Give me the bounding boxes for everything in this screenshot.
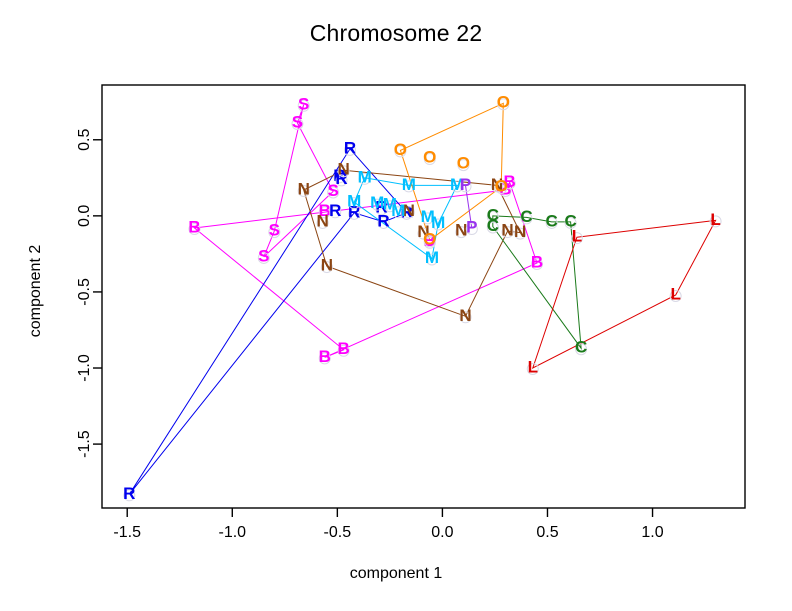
data-point-N-brown[interactable]: N	[501, 221, 513, 240]
data-point-B[interactable]: B	[319, 347, 331, 366]
data-point-O[interactable]: O	[394, 140, 407, 159]
data-point-L[interactable]: L	[710, 210, 720, 229]
hull-B	[195, 182, 538, 357]
x-tick-label: -1.0	[218, 524, 246, 541]
data-point-B[interactable]: B	[188, 218, 200, 237]
data-point-M[interactable]: M	[391, 201, 405, 220]
data-point-R[interactable]: R	[377, 211, 389, 230]
data-point-R[interactable]: R	[329, 201, 341, 220]
data-point-S[interactable]: S	[258, 246, 269, 265]
data-point-L[interactable]: L	[528, 357, 538, 376]
data-point-C[interactable]: C	[520, 207, 532, 226]
data-point-P[interactable]: P	[460, 175, 471, 194]
y-tick-label: -1.5	[76, 430, 93, 458]
data-point-N-brown[interactable]: N	[321, 256, 333, 275]
data-point-C[interactable]: C	[575, 338, 587, 357]
hull-L	[533, 220, 716, 368]
data-point-N-brown[interactable]: N	[459, 306, 471, 325]
chart-canvas: Chromosome 22 component 1 component 2 -1…	[0, 0, 792, 611]
data-point-M[interactable]: M	[358, 167, 372, 186]
data-point-O[interactable]: O	[423, 148, 436, 167]
x-tick-label: -1.5	[113, 524, 141, 541]
data-point-L[interactable]: L	[572, 227, 582, 246]
data-point-M[interactable]: M	[347, 192, 361, 211]
data-point-M[interactable]: M	[425, 248, 439, 267]
x-tick-label: 1.0	[641, 524, 663, 541]
data-point-O[interactable]: O	[495, 176, 508, 195]
y-tick-label: 0.0	[76, 205, 93, 227]
data-point-O[interactable]: O	[457, 154, 470, 173]
x-tick-label: -0.5	[324, 524, 352, 541]
data-point-P[interactable]: P	[466, 218, 477, 237]
data-point-S[interactable]: S	[298, 94, 309, 113]
y-tick-label: 0.5	[76, 129, 93, 151]
axis-layer: -1.5-1.0-0.50.00.51.0-1.5-1.0-0.50.00.5	[76, 85, 745, 541]
data-point-S[interactable]: S	[292, 113, 303, 132]
data-point-N-brown[interactable]: N	[316, 211, 328, 230]
data-point-N-brown[interactable]: N	[338, 160, 350, 179]
data-point-S[interactable]: S	[269, 221, 280, 240]
data-point-R[interactable]: R	[344, 138, 356, 157]
data-point-L[interactable]: L	[670, 284, 680, 303]
data-point-layer: SSSSSBBBBBBBBRRRRRRRRRNNNNNNNNNNNMMMMMMM…	[123, 93, 721, 503]
data-point-B[interactable]: B	[338, 339, 350, 358]
scatter-plot: -1.5-1.0-0.50.00.51.0-1.5-1.0-0.50.00.5 …	[0, 0, 792, 611]
x-tick-label: 0.0	[431, 524, 453, 541]
data-point-B[interactable]: B	[531, 253, 543, 272]
y-tick-label: -1.0	[76, 354, 93, 382]
data-point-O[interactable]: O	[423, 230, 436, 249]
data-point-R[interactable]: R	[123, 484, 135, 503]
data-point-N-brown[interactable]: N	[298, 179, 310, 198]
data-point-C[interactable]: C	[546, 211, 558, 230]
y-tick-label: -0.5	[76, 278, 93, 306]
data-point-O[interactable]: O	[497, 93, 510, 112]
data-point-M[interactable]: M	[402, 175, 416, 194]
hull-R	[129, 149, 406, 494]
data-point-C[interactable]: C	[487, 216, 499, 235]
x-tick-label: 0.5	[536, 524, 558, 541]
